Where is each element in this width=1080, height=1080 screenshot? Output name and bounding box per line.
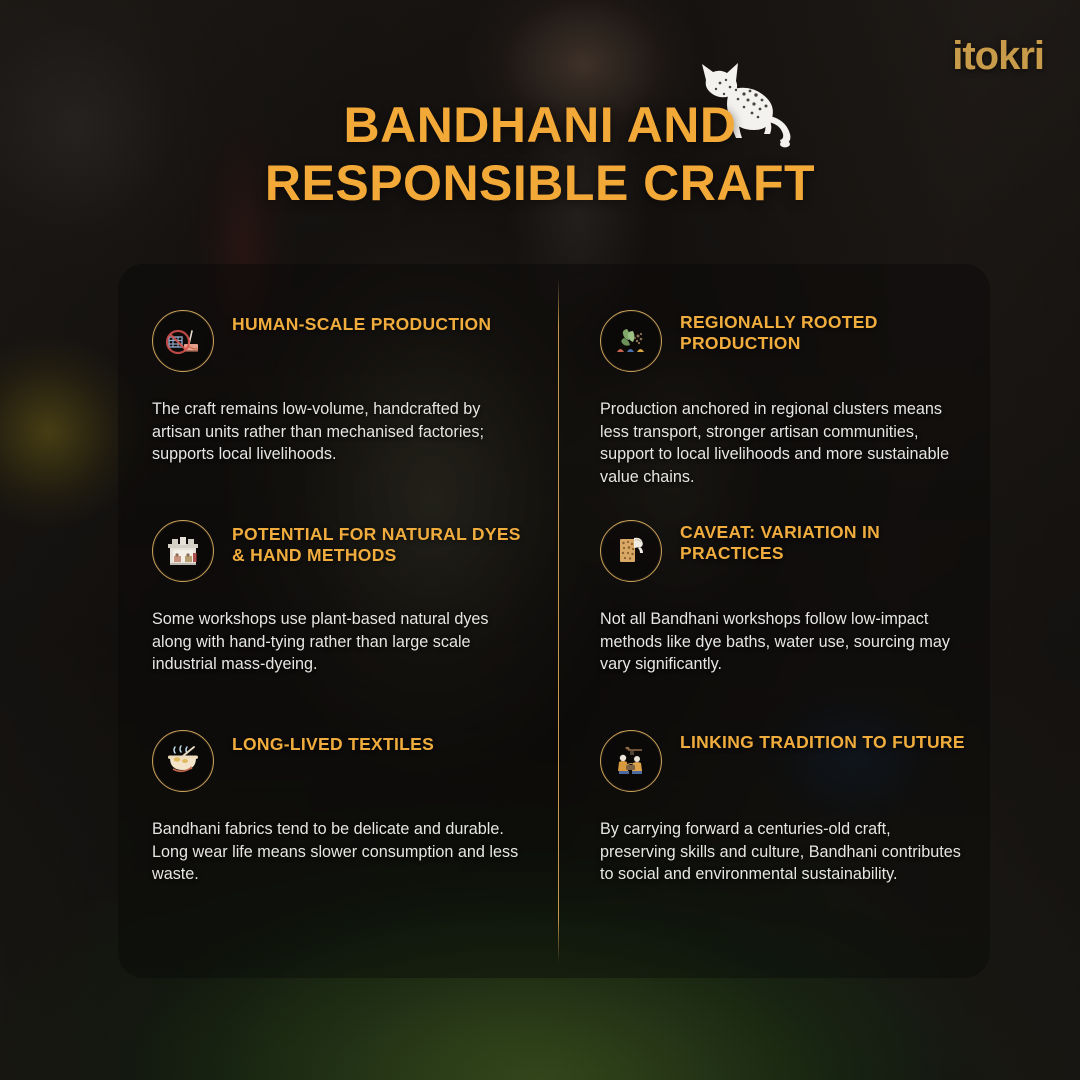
card-body: Bandhani fabrics tend to be delicate and… <box>152 818 524 886</box>
card-body: Some workshops use plant-based natural d… <box>152 608 524 676</box>
page-title-line-1: BANDHANI AND <box>343 97 736 153</box>
benefits-grid: HUMAN-SCALE PRODUCTION The craft remains… <box>118 264 990 978</box>
card-title: POTENTIAL FOR NATURAL DYES & HAND METHOD… <box>232 524 524 567</box>
card-title: LINKING TRADITION TO FUTURE <box>680 732 965 753</box>
content-panel: HUMAN-SCALE PRODUCTION The craft remains… <box>118 264 990 978</box>
hand-holding-patterned-fabric-icon <box>600 520 662 582</box>
natural-dye-leaves-pigments-icon <box>600 310 662 372</box>
benefit-card-human-scale-production: HUMAN-SCALE PRODUCTION The craft remains… <box>118 264 558 474</box>
benefit-card-regionally-rooted-production: REGIONALLY ROOTED PRODUCTION Production … <box>558 264 990 474</box>
card-body: By carrying forward a centuries-old craf… <box>600 818 968 886</box>
artisan-workshop-building-icon <box>152 520 214 582</box>
page-title: BANDHANI AND RESPONSIBLE CRAFT <box>0 96 1080 212</box>
steaming-dye-pot-icon <box>152 730 214 792</box>
card-body: Not all Bandhani workshops follow low-im… <box>600 608 968 676</box>
benefit-card-linking-tradition-future: LINKING TRADITION TO FUTURE By carrying … <box>558 684 990 914</box>
card-header: LINKING TRADITION TO FUTURE <box>600 730 968 792</box>
card-title: LONG-LIVED TEXTILES <box>232 734 434 755</box>
brand-logo[interactable]: itokri <box>952 36 1044 76</box>
card-title: REGIONALLY ROOTED PRODUCTION <box>680 312 968 355</box>
benefit-card-caveat-variation-practices: CAVEAT: VARIATION IN PRACTICES Not all B… <box>558 474 990 684</box>
card-header: REGIONALLY ROOTED PRODUCTION <box>600 310 968 372</box>
page-title-line-2: RESPONSIBLE CRAFT <box>0 154 1080 212</box>
two-artisans-working-icon <box>600 730 662 792</box>
benefit-card-natural-dyes-hand-methods: POTENTIAL FOR NATURAL DYES & HAND METHOD… <box>118 474 558 684</box>
card-title: CAVEAT: VARIATION IN PRACTICES <box>680 522 968 565</box>
card-header: HUMAN-SCALE PRODUCTION <box>152 310 524 372</box>
no-factory-machine-icon <box>152 310 214 372</box>
card-title: HUMAN-SCALE PRODUCTION <box>232 314 491 335</box>
card-header: POTENTIAL FOR NATURAL DYES & HAND METHOD… <box>152 520 524 582</box>
card-header: CAVEAT: VARIATION IN PRACTICES <box>600 520 968 582</box>
benefit-card-long-lived-textiles: LONG-LIVED TEXTILES Bandhani fabrics ten… <box>118 684 558 914</box>
header: itokri BANDHANI AN <box>0 0 1080 262</box>
card-header: LONG-LIVED TEXTILES <box>152 730 524 792</box>
card-body: The craft remains low-volume, handcrafte… <box>152 398 524 466</box>
